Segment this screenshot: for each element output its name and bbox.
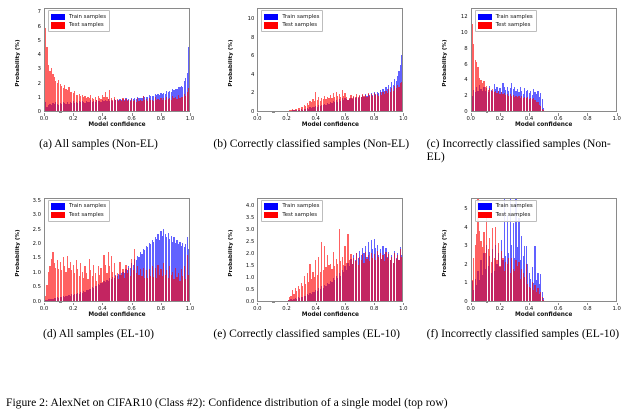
x-tick-mark — [529, 113, 530, 116]
y-tick-label: 1.5 — [33, 255, 41, 261]
panel-f: Probability (%) 012345 Train samples Tes… — [427, 190, 640, 340]
y-tick-label: 10 — [461, 30, 468, 36]
x-axis-label: Model confidence — [257, 312, 403, 318]
y-tick-label: 4 — [251, 72, 254, 78]
x-tick-mark — [161, 303, 162, 306]
legend-entry-test: Test samples — [51, 21, 106, 30]
y-tick-label: 10 — [248, 16, 255, 22]
x-tick-mark — [73, 113, 74, 116]
legend-entry-test: Test samples — [478, 21, 533, 30]
x-tick-mark — [190, 113, 191, 116]
y-tick-label: 2 — [38, 81, 41, 87]
y-tick-label: 1.5 — [246, 263, 254, 269]
histogram-bar — [543, 300, 544, 301]
x-axis-label: Model confidence — [257, 122, 403, 128]
x-tick-mark — [190, 303, 191, 306]
panel-c: Probability (%) 024681012 Train samples … — [427, 0, 640, 164]
panel-b: Probability (%) 0246810 Train samples Te… — [213, 0, 426, 164]
legend-d: Train samples Test samples — [48, 200, 110, 222]
x-tick-mark — [132, 303, 133, 306]
x-tick-mark — [374, 113, 375, 116]
plot-f: Probability (%) 012345 Train samples Tes… — [427, 190, 640, 327]
x-tick-mark — [102, 303, 103, 306]
legend-label-train: Train samples — [496, 13, 533, 22]
y-tick-label: 4.0 — [246, 203, 254, 209]
legend-entry-test: Test samples — [51, 211, 106, 220]
x-tick-mark — [403, 303, 404, 306]
panel-d: Probability (%) 0.00.51.01.52.02.53.03.5… — [0, 190, 213, 340]
legend-label-train: Train samples — [282, 202, 319, 211]
legend-entry-train: Train samples — [51, 13, 106, 22]
y-tick-label: 1 — [464, 280, 467, 286]
y-tick-label: 12 — [461, 14, 468, 20]
y-tick-label: 3.5 — [246, 215, 254, 221]
legend-label-test: Test samples — [282, 21, 317, 30]
legend-entry-test: Test samples — [264, 21, 319, 30]
panel-caption-d: (d) All samples (EL-10) — [0, 327, 205, 340]
y-tick-label: 1.0 — [246, 275, 254, 281]
x-tick-mark — [161, 113, 162, 116]
x-axis-label: Model confidence — [44, 122, 190, 128]
x-tick-mark — [345, 303, 346, 306]
x-tick-mark — [500, 113, 501, 116]
x-tick-mark — [132, 113, 133, 116]
y-tick-label: 0 — [251, 109, 254, 115]
x-axis-label: Model confidence — [471, 312, 617, 318]
x-tick-mark — [257, 113, 258, 116]
legend-swatch-test — [478, 212, 492, 219]
x-tick-mark — [44, 113, 45, 116]
y-ticks-b: 0246810 — [231, 8, 254, 112]
y-tick-label: 2 — [464, 93, 467, 99]
legend-label-test: Test samples — [282, 211, 317, 220]
y-ticks-c: 024681012 — [445, 8, 468, 112]
x-tick-mark — [44, 303, 45, 306]
x-tick-mark — [529, 303, 530, 306]
legend-label-train: Train samples — [282, 13, 319, 22]
x-tick-mark — [257, 303, 258, 306]
legend-f: Train samples Test samples — [475, 200, 537, 222]
panel-a: Probability (%) 01234567 Train samples T… — [0, 0, 213, 164]
y-tick-label: 0.0 — [33, 299, 41, 305]
y-tick-label: 8 — [251, 35, 254, 41]
x-axis-label: Model confidence — [44, 312, 190, 318]
plot-b: Probability (%) 0246810 Train samples Te… — [213, 0, 426, 137]
y-tick-label: 3.5 — [33, 198, 41, 204]
y-ticks-f: 012345 — [445, 198, 468, 302]
y-tick-label: 2.5 — [246, 239, 254, 245]
y-tick-label: 0.5 — [246, 287, 254, 293]
y-tick-label: 6 — [464, 62, 467, 68]
panel-caption-c: (c) Incorrectly classified samples (Non-… — [427, 137, 632, 164]
y-tick-label: 6 — [251, 53, 254, 59]
y-tick-label: 2.0 — [33, 241, 41, 247]
legend-swatch-test — [51, 212, 65, 219]
x-tick-mark — [500, 303, 501, 306]
y-tick-label: 2.0 — [246, 251, 254, 257]
plot-e: Probability (%) 0.00.51.01.52.02.53.03.5… — [213, 190, 426, 327]
y-tick-label: 4 — [464, 77, 467, 83]
x-tick-mark — [345, 113, 346, 116]
y-tick-label: 3 — [38, 66, 41, 72]
legend-label-test: Test samples — [69, 211, 104, 220]
x-tick-mark — [316, 303, 317, 306]
x-tick-mark — [587, 303, 588, 306]
histogram-bar — [543, 110, 544, 111]
y-tick-label: 0.0 — [246, 299, 254, 305]
plot-a: Probability (%) 01234567 Train samples T… — [0, 0, 213, 137]
legend-label-test: Test samples — [69, 21, 104, 30]
x-tick-mark — [102, 113, 103, 116]
legend-b: Train samples Test samples — [261, 10, 323, 32]
y-ticks-a: 01234567 — [18, 8, 41, 112]
panel-caption-f: (f) Incorrectly classified samples (EL-1… — [427, 327, 632, 340]
panel-caption-e: (e) Correctly classified samples (EL-10) — [213, 327, 418, 340]
legend-swatch-test — [264, 22, 278, 29]
legend-swatch-test — [51, 22, 65, 29]
x-tick-mark — [471, 303, 472, 306]
x-tick-mark — [73, 303, 74, 306]
legend-swatch-train — [264, 14, 278, 21]
x-tick-mark — [403, 113, 404, 116]
y-tick-label: 7 — [38, 9, 41, 15]
y-tick-label: 3 — [464, 243, 467, 249]
panel-caption-a: (a) All samples (Non-EL) — [0, 137, 205, 150]
x-tick-mark — [558, 303, 559, 306]
x-tick-mark — [287, 113, 288, 116]
legend-entry-train: Train samples — [264, 202, 319, 211]
figure-row-bottom: Probability (%) 0.00.51.01.52.02.53.03.5… — [0, 190, 640, 340]
figure-row-top: Probability (%) 01234567 Train samples T… — [0, 0, 640, 164]
plot-c: Probability (%) 024681012 Train samples … — [427, 0, 640, 137]
y-tick-label: 0 — [464, 109, 467, 115]
y-tick-label: 6 — [38, 24, 41, 30]
y-ticks-d: 0.00.51.01.52.02.53.03.5 — [18, 198, 41, 302]
legend-swatch-train — [264, 203, 278, 210]
legend-label-test: Test samples — [496, 21, 531, 30]
legend-entry-train: Train samples — [478, 202, 533, 211]
x-tick-mark — [287, 303, 288, 306]
x-tick-mark — [316, 113, 317, 116]
x-tick-mark — [587, 113, 588, 116]
y-tick-label: 0 — [464, 299, 467, 305]
legend-entry-train: Train samples — [51, 202, 106, 211]
legend-entry-test: Test samples — [478, 211, 533, 220]
y-tick-label: 4 — [38, 52, 41, 58]
y-tick-label: 1.0 — [33, 270, 41, 276]
legend-entry-train: Train samples — [264, 13, 319, 22]
legend-a: Train samples Test samples — [48, 10, 110, 32]
panel-e: Probability (%) 0.00.51.01.52.02.53.03.5… — [213, 190, 426, 340]
x-tick-mark — [617, 113, 618, 116]
y-tick-label: 5 — [38, 38, 41, 44]
legend-e: Train samples Test samples — [261, 200, 323, 222]
x-tick-mark — [617, 303, 618, 306]
legend-label-train: Train samples — [69, 13, 106, 22]
y-tick-label: 8 — [464, 46, 467, 52]
legend-entry-test: Test samples — [264, 211, 319, 220]
x-tick-mark — [471, 113, 472, 116]
x-tick-mark — [558, 113, 559, 116]
y-tick-label: 2 — [464, 262, 467, 268]
y-tick-label: 3.0 — [246, 227, 254, 233]
y-ticks-e: 0.00.51.01.52.02.53.03.54.0 — [231, 198, 254, 302]
plot-d: Probability (%) 0.00.51.01.52.02.53.03.5… — [0, 190, 213, 327]
legend-swatch-train — [51, 203, 65, 210]
legend-swatch-train — [478, 14, 492, 21]
x-axis-label: Model confidence — [471, 122, 617, 128]
y-tick-label: 2.5 — [33, 227, 41, 233]
legend-label-test: Test samples — [496, 211, 531, 220]
y-tick-label: 1 — [38, 95, 41, 101]
legend-label-train: Train samples — [496, 202, 533, 211]
legend-entry-train: Train samples — [478, 13, 533, 22]
legend-swatch-train — [478, 203, 492, 210]
y-tick-label: 2 — [251, 90, 254, 96]
legend-label-train: Train samples — [69, 202, 106, 211]
y-tick-label: 0 — [38, 109, 41, 115]
y-tick-label: 0.5 — [33, 284, 41, 290]
y-tick-label: 3.0 — [33, 212, 41, 218]
legend-c: Train samples Test samples — [475, 10, 537, 32]
figure-container: Probability (%) 01234567 Train samples T… — [0, 0, 640, 411]
y-tick-label: 4 — [464, 225, 467, 231]
y-tick-label: 5 — [464, 206, 467, 212]
panel-caption-b: (b) Correctly classified samples (Non-EL… — [213, 137, 418, 150]
legend-swatch-train — [51, 14, 65, 21]
legend-swatch-test — [478, 22, 492, 29]
figure-caption: Figure 2: AlexNet on CIFAR10 (Class #2):… — [6, 396, 634, 410]
legend-swatch-test — [264, 212, 278, 219]
x-tick-mark — [374, 303, 375, 306]
